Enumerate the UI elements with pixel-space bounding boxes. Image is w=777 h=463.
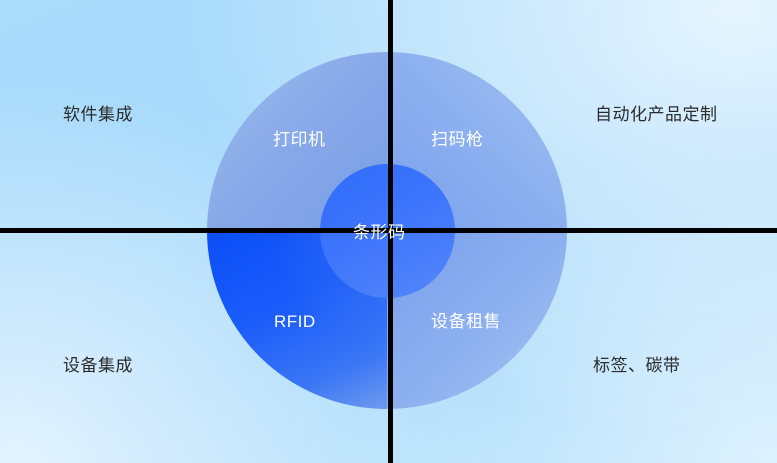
outer-label-software-integration: 软件集成 (63, 106, 133, 123)
segment-label-rfid: RFID (274, 313, 316, 330)
outer-label-device-integration: 设备集成 (63, 357, 133, 374)
outer-label-automation-custom: 自动化产品定制 (595, 106, 718, 123)
segment-label-printer: 打印机 (273, 131, 326, 148)
segment-label-scanner: 扫码枪 (431, 131, 484, 148)
diagram-canvas: 软件集成 自动化产品定制 设备集成 标签、碳带 打印机 扫码枪 RFID 设备租… (0, 0, 777, 463)
core-label-barcode: 条形码 (353, 224, 406, 241)
segment-label-rental: 设备租售 (431, 313, 501, 330)
outer-label-labels-ribbons: 标签、碳带 (593, 357, 681, 374)
